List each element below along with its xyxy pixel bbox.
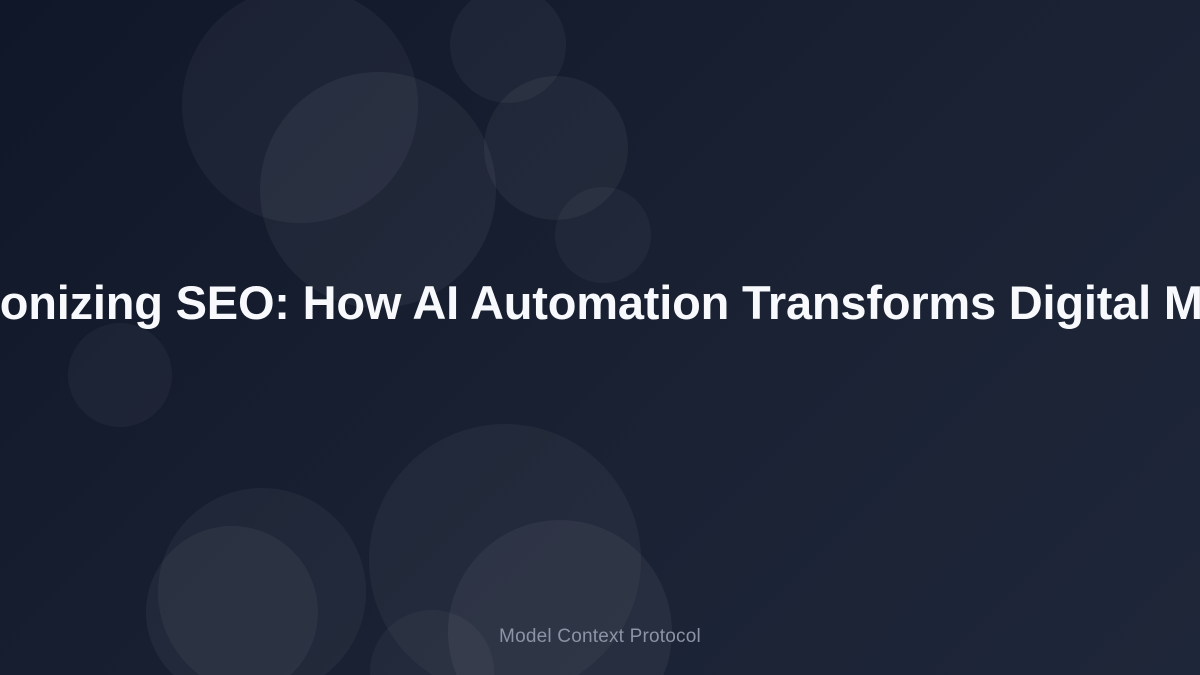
page-title: Revolutionizing SEO: How AI Automation T… xyxy=(0,277,1200,330)
title-container: Revolutionizing SEO: How AI Automation T… xyxy=(0,0,1200,675)
footer-brand-label: Model Context Protocol xyxy=(499,626,701,647)
footer: Model Context Protocol xyxy=(0,626,1200,648)
social-share-card: Revolutionizing SEO: How AI Automation T… xyxy=(0,0,1200,675)
